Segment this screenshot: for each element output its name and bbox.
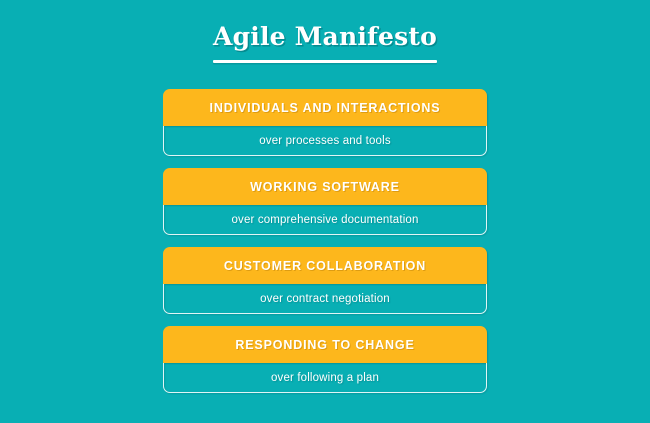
value-preferred-label: CUSTOMER COLLABORATION	[224, 259, 426, 273]
value-over-label: over following a plan	[271, 371, 379, 385]
value-preferred-banner: INDIVIDUALS AND INTERACTIONS	[163, 89, 487, 126]
value-preferred-label: WORKING SOFTWARE	[250, 180, 400, 194]
value-over-panel: over processes and tools	[163, 126, 487, 156]
page-title: Agile Manifesto	[213, 22, 437, 52]
manifesto-values-list: INDIVIDUALS AND INTERACTIONS over proces…	[163, 89, 487, 393]
value-preferred-banner: CUSTOMER COLLABORATION	[163, 247, 487, 284]
list-item[interactable]: INDIVIDUALS AND INTERACTIONS over proces…	[163, 89, 487, 156]
list-item[interactable]: RESPONDING TO CHANGE over following a pl…	[163, 326, 487, 393]
value-over-panel: over contract negotiation	[163, 284, 487, 314]
agile-manifesto-poster: Agile Manifesto INDIVIDUALS AND INTERACT…	[0, 0, 650, 423]
value-preferred-banner: WORKING SOFTWARE	[163, 168, 487, 205]
value-preferred-banner: RESPONDING TO CHANGE	[163, 326, 487, 363]
value-over-label: over contract negotiation	[260, 292, 390, 306]
value-preferred-label: RESPONDING TO CHANGE	[235, 338, 414, 352]
value-over-panel: over following a plan	[163, 363, 487, 393]
value-over-panel: over comprehensive documentation	[163, 205, 487, 235]
page-title-container: Agile Manifesto	[0, 22, 650, 63]
list-item[interactable]: WORKING SOFTWARE over comprehensive docu…	[163, 168, 487, 235]
value-over-label: over comprehensive documentation	[232, 213, 419, 227]
title-underline-rule	[213, 60, 437, 63]
value-preferred-label: INDIVIDUALS AND INTERACTIONS	[210, 101, 441, 115]
value-over-label: over processes and tools	[259, 134, 390, 148]
list-item[interactable]: CUSTOMER COLLABORATION over contract neg…	[163, 247, 487, 314]
